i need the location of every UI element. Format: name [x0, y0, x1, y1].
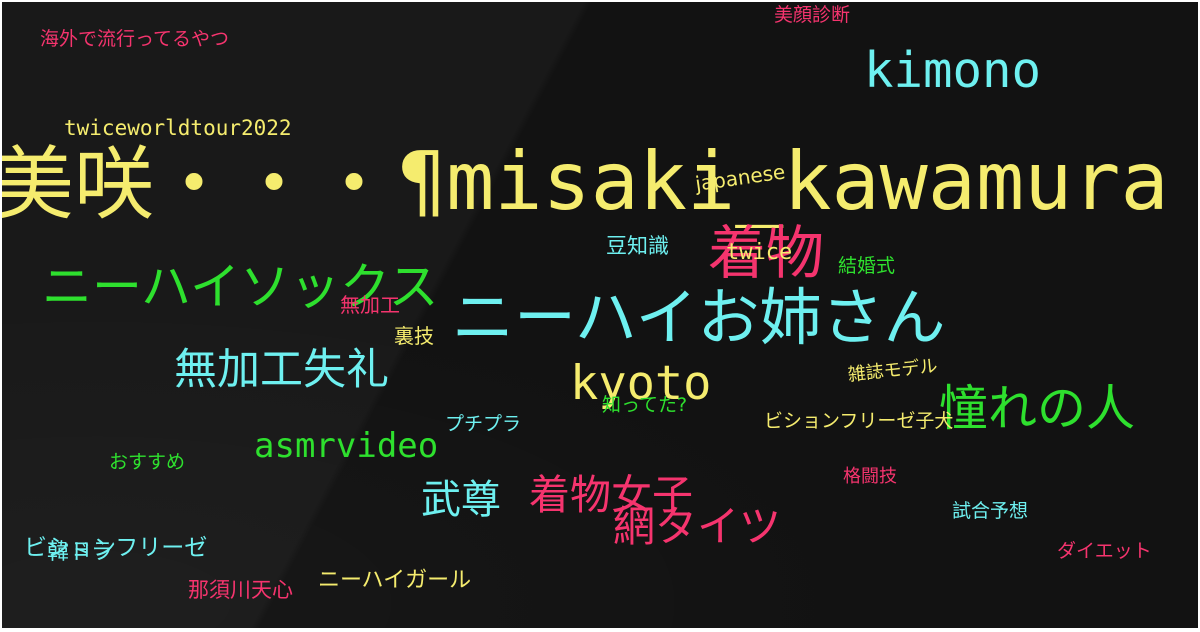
cloud-word-cjk: 武尊 [421, 480, 501, 520]
cloud-word-cjk: 知ってた? [602, 396, 687, 415]
cloud-word-cjk: 裏技 [394, 326, 434, 346]
cloud-word-cjk: ダイエット [1057, 542, 1152, 561]
cloud-word-cjk: 憧れの人 [939, 384, 1135, 433]
word-cloud-canvas: 海外で流行ってるやつ美顔診断kimonotwiceworldtour2022美咲… [2, 2, 1198, 628]
cloud-word-cjk: 試合予想 [952, 502, 1028, 521]
cloud-word-cjk: 美咲・・・ [2, 145, 394, 225]
cloud-word-twiceworldtour2022: twiceworldtour2022 [64, 118, 292, 139]
cloud-word-twice: twice [726, 242, 792, 264]
cloud-word-cjk: 美顔診断 [774, 6, 850, 25]
cloud-word-cjk: 網タイツ [613, 506, 781, 548]
cloud-word-cjk: 豆知識 [606, 236, 669, 257]
cloud-word-cjk: 無加工 [340, 295, 400, 315]
cloud-word-cjk: ニーハイお姉さん [452, 287, 946, 349]
cloud-word-cjk: 海外で流行ってるやつ [40, 30, 229, 49]
cloud-word-kimono: kimono [864, 46, 1041, 95]
cloud-word-cjk: ニーハイガール [318, 570, 471, 592]
cloud-word-cjk: 韓ドラ [47, 542, 113, 564]
cloud-word-cjk: 結婚式 [838, 257, 895, 276]
cloud-word-cjk: ビションフリーゼ子犬 [764, 412, 953, 431]
cloud-word-cjk: 雑誌モデル [847, 358, 938, 385]
cloud-word-asmrvideo: asmrvideo [254, 429, 438, 463]
cloud-word-cjk: 無加工失礼 [174, 349, 389, 392]
cloud-word-cjk: 那須川天心 [188, 580, 293, 601]
cloud-word-cjk: 格闘技 [843, 468, 897, 486]
cloud-word-cjk: プチプラ [445, 415, 521, 434]
cloud-word-cjk: おすすめ [109, 453, 185, 472]
